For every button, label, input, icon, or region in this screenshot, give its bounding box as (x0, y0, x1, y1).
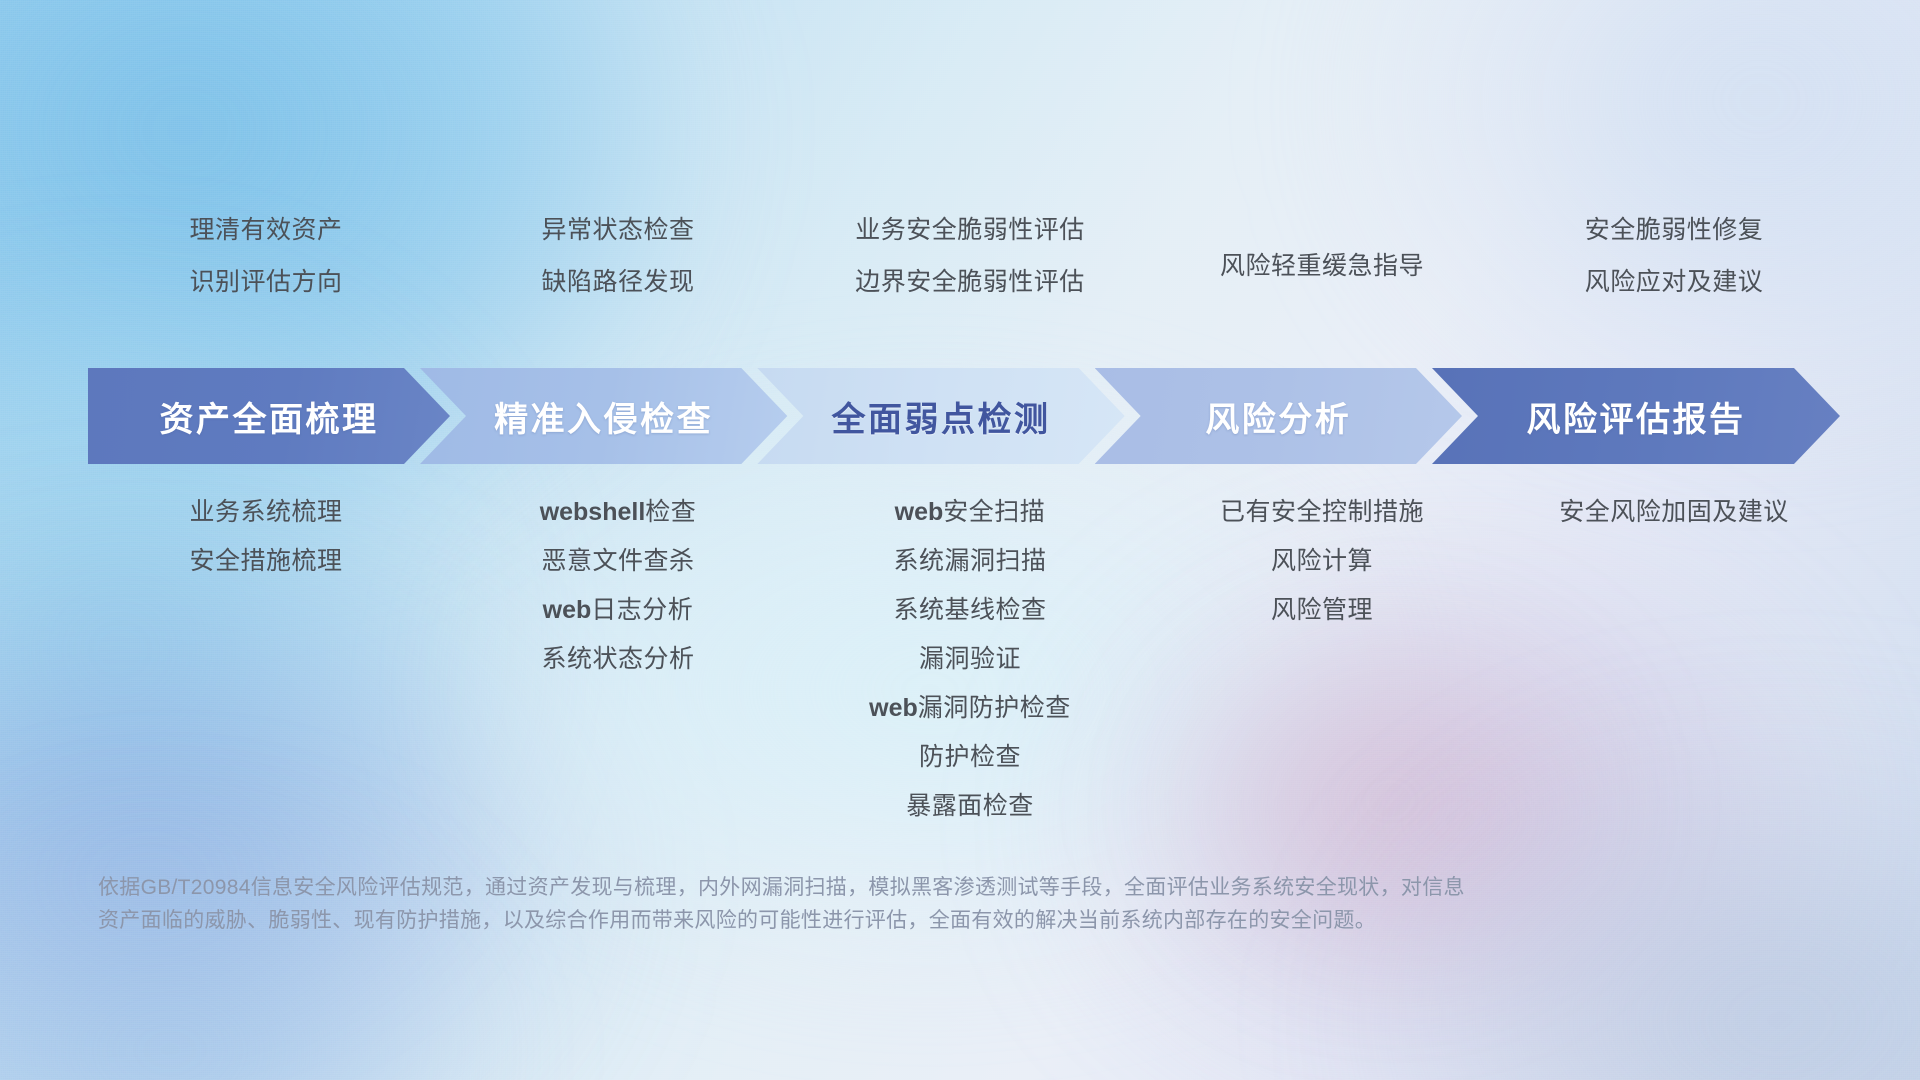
chevron-stage-asset-inventory[interactable]: 资产全面梳理 (88, 368, 450, 464)
stage-output-line: 风险应对及建议 (1585, 270, 1764, 295)
stage-output-line: 异常状态检查 (541, 218, 694, 243)
process-diagram: 理清有效资产 识别评估方向 异常状态检查 缺陷路径发现 业务安全脆弱性评估 边界… (0, 0, 1920, 1080)
stage-activities-risk-report: 安全风险加固及建议 (1498, 500, 1850, 549)
footer-description: 依据GB/T20984信息安全风险评估规范，通过资产发现与梳理，内外网漏洞扫描，… (98, 872, 1738, 937)
stage-activities-weakness-detection: web安全扫描系统漏洞扫描系统基线检查漏洞验证web漏洞防护检查防护检查暴露面检… (794, 500, 1146, 843)
stage-activity-item: 暴露面检查 (906, 794, 1034, 819)
stage-outputs-row: 理清有效资产 识别评估方向 异常状态检查 缺陷路径发现 业务安全脆弱性评估 边界… (90, 218, 1850, 348)
stage-activity-item: 系统基线检查 (893, 598, 1046, 623)
chevron-stage-intrusion-check[interactable]: 精准入侵检查 (420, 368, 787, 464)
stage-activity-item: 防护检查 (919, 745, 1021, 770)
footer-line-2: 资产面临的威胁、脆弱性、现有防护措施，以及综合作用而带来风险的可能性进行评估，全… (98, 905, 1738, 938)
stage-output-line: 理清有效资产 (189, 218, 342, 243)
stage-activities-risk-analysis: 已有安全控制措施风险计算风险管理 (1146, 500, 1498, 647)
stage-activities-asset-inventory: 业务系统梳理安全措施梳理 (90, 500, 442, 598)
chevron-title: 风险评估报告 (1526, 392, 1745, 441)
stage-activity-item: web漏洞防护检查 (869, 696, 1071, 721)
stage-activity-item: 漏洞验证 (919, 647, 1021, 672)
stage-outputs-asset-inventory: 理清有效资产 识别评估方向 (90, 218, 442, 348)
footer-line-1: 依据GB/T20984信息安全风险评估规范，通过资产发现与梳理，内外网漏洞扫描，… (98, 872, 1738, 905)
chevron-stage-weakness-detection[interactable]: 全面弱点检测 (757, 368, 1124, 464)
stage-activity-item: 安全风险加固及建议 (1559, 500, 1789, 525)
chevron-title: 精准入侵检查 (494, 392, 713, 441)
stage-activities-intrusion-check: webshell检查恶意文件查杀web日志分析系统状态分析 (442, 500, 794, 696)
stage-activity-item: 业务系统梳理 (189, 500, 342, 525)
stage-activity-item: 系统状态分析 (541, 647, 694, 672)
chevron-stage-risk-report[interactable]: 风险评估报告 (1432, 368, 1840, 464)
stage-output-line: 风险轻重缓急指导 (1220, 254, 1424, 279)
stage-outputs-risk-analysis: 风险轻重缓急指导 (1146, 218, 1498, 348)
stage-outputs-weakness-detection: 业务安全脆弱性评估 边界安全脆弱性评估 (794, 218, 1146, 348)
stage-activity-item: 已有安全控制措施 (1220, 500, 1424, 525)
stage-activity-item: web日志分析 (543, 598, 694, 623)
stage-activity-item: 安全措施梳理 (189, 549, 342, 574)
stage-output-line: 缺陷路径发现 (541, 270, 694, 295)
stage-outputs-intrusion-check: 异常状态检查 缺陷路径发现 (442, 218, 794, 348)
chevron-title: 全面弱点检测 (831, 392, 1050, 441)
stage-activity-item: 风险管理 (1271, 598, 1373, 623)
chevron-title: 风险分析 (1205, 392, 1351, 441)
stage-output-line: 识别评估方向 (189, 270, 342, 295)
stage-activity-item: webshell检查 (540, 500, 697, 525)
stage-outputs-risk-report: 安全脆弱性修复 风险应对及建议 (1498, 218, 1850, 348)
stage-activity-item: 系统漏洞扫描 (893, 549, 1046, 574)
stage-output-line: 边界安全脆弱性评估 (855, 270, 1085, 295)
stage-output-line: 业务安全脆弱性评估 (855, 218, 1085, 243)
chevron-title: 资产全面梳理 (160, 392, 379, 441)
stage-activity-item: 风险计算 (1271, 549, 1373, 574)
stage-activity-item: web安全扫描 (895, 500, 1046, 525)
stage-chevron-band: 资产全面梳理 精准入侵检查 全面弱点检测 风险分析 风险评估报告 (88, 368, 1840, 464)
stage-activity-item: 恶意文件查杀 (541, 549, 694, 574)
chevron-stage-risk-analysis[interactable]: 风险分析 (1095, 368, 1462, 464)
stage-output-line: 安全脆弱性修复 (1585, 218, 1764, 243)
stage-activities-row: 业务系统梳理安全措施梳理 webshell检查恶意文件查杀web日志分析系统状态… (90, 500, 1850, 843)
